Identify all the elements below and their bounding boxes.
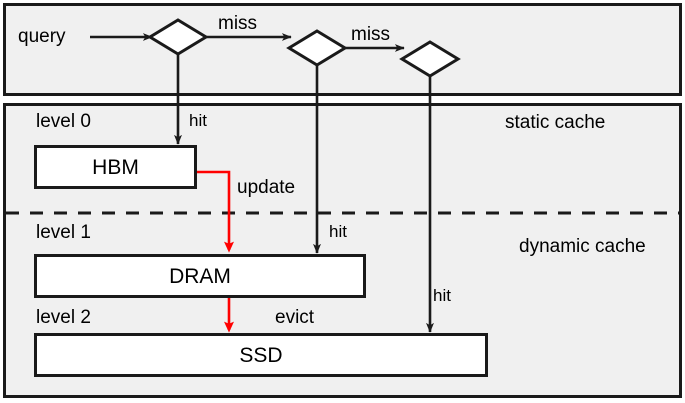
- level-1-label: level 1: [36, 223, 91, 242]
- evict-label: evict: [275, 308, 314, 327]
- ssd-box-label: SSD: [35, 345, 487, 366]
- update-label: update: [237, 178, 295, 197]
- hit-label-level1: hit: [329, 223, 347, 240]
- dram-box-label: DRAM: [35, 266, 365, 287]
- level-0-label: level 0: [36, 112, 91, 131]
- miss-label-1: miss: [218, 14, 257, 33]
- query-label: query: [18, 27, 66, 46]
- dynamic-cache-label: dynamic cache: [519, 237, 646, 256]
- cache-hierarchy-diagram: [0, 0, 685, 403]
- miss-label-2: miss: [351, 25, 390, 44]
- level-2-label: level 2: [36, 308, 91, 327]
- hit-label-level0: hit: [189, 112, 207, 129]
- hbm-box-label: HBM: [35, 157, 196, 178]
- diagram-canvas: query miss miss hit hit hit update evict…: [0, 0, 685, 403]
- static-cache-label: static cache: [505, 113, 605, 132]
- hit-label-level2: hit: [433, 287, 451, 304]
